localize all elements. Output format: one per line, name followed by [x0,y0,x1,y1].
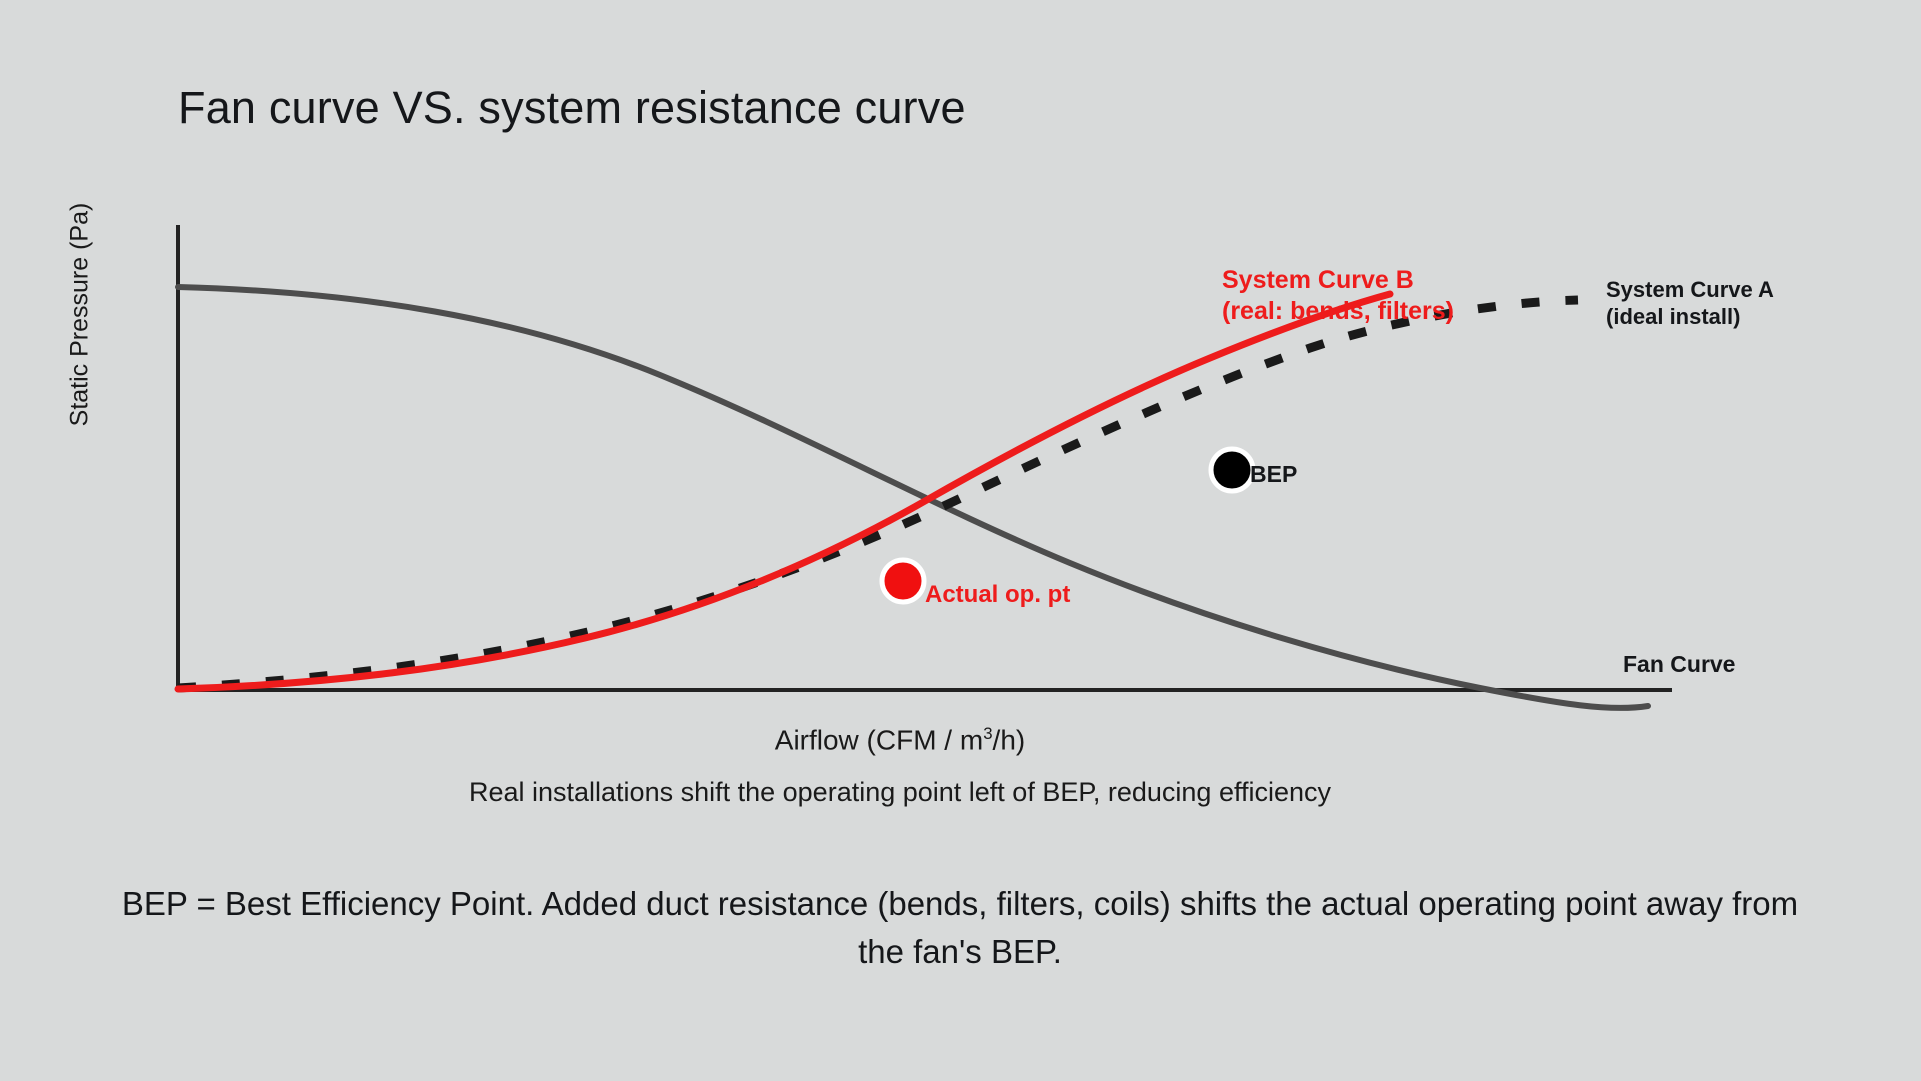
annotation-system-curve-a: System Curve A (ideal install) [1606,277,1774,331]
annotation-system-curve-a-line2: (ideal install) [1606,304,1774,331]
x-axis-label-prefix: Airflow (CFM / m [775,724,983,755]
fan-curve-path [178,287,1648,708]
x-axis-label-suffix: /h) [993,724,1026,755]
annotation-system-curve-b-line1: System Curve B [1222,265,1454,296]
annotation-bep: BEP [1250,460,1297,488]
annotation-system-curve-b: System Curve B (real: bends, filters) [1222,265,1454,326]
chart-footnote: BEP = Best Efficiency Point. Added duct … [120,880,1800,976]
annotation-system-curve-a-line1: System Curve A [1606,277,1774,304]
system-curve-b-path [178,294,1390,689]
chart-figure: Fan curve VS. system resistance curve St… [0,0,1921,1081]
system-curve-a-path [178,300,1578,688]
y-axis-label: Static Pressure (Pa) [66,175,95,455]
x-axis-label-superscript: 3 [983,724,992,743]
chart-subcaption: Real installations shift the operating p… [0,777,1800,808]
annotation-actual-op-pt: Actual op. pt [925,580,1070,609]
bep-marker [1211,449,1253,491]
annotation-fan-curve: Fan Curve [1623,650,1735,678]
actual-op-pt-marker [882,560,924,602]
x-axis-label: Airflow (CFM / m3/h) [0,724,1800,756]
annotation-system-curve-b-line2: (real: bends, filters) [1222,296,1454,327]
